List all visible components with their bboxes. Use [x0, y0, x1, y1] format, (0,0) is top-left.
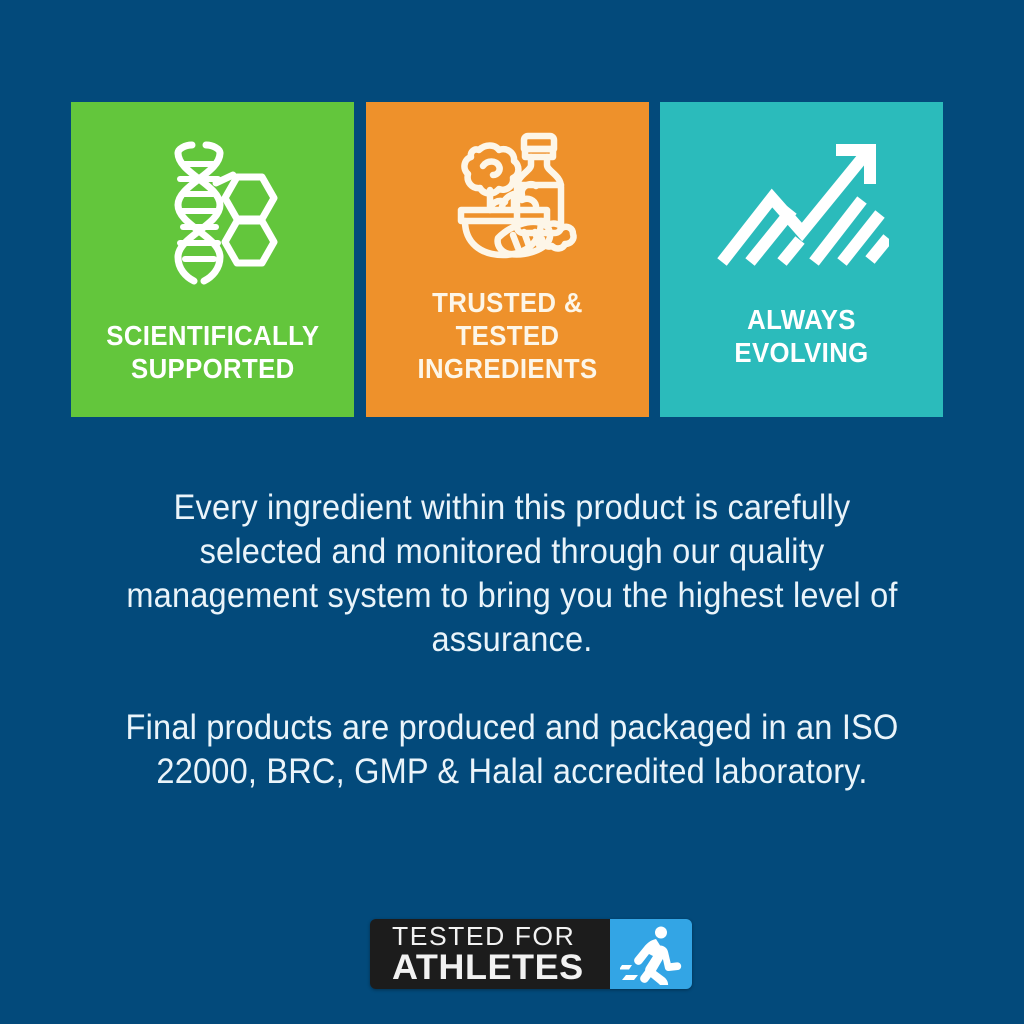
body-copy: Every ingredient within this product is … — [92, 486, 932, 794]
badge-card-always-evolving[interactable]: ALWAYS EVOLVING — [660, 102, 943, 417]
logo-line-athletes: ATHLETES — [392, 950, 617, 986]
paragraph-accreditations: Final products are produced and packaged… — [121, 706, 902, 794]
dna-hexagon-icon — [71, 108, 354, 319]
growth-arrow-chart-icon — [660, 108, 943, 303]
badge-card-scientifically-supported[interactable]: SCIENTIFICALLY SUPPORTED — [71, 102, 354, 417]
badge-label-trusted-tested-ingredients: TRUSTED & TESTED INGREDIENTS — [377, 286, 637, 385]
logo-text-block: TESTED FOR ATHLETES — [370, 919, 610, 989]
running-athlete-icon — [610, 919, 692, 989]
badge-label-scientifically-supported: SCIENTIFICALLY SUPPORTED — [100, 319, 324, 385]
badge-label-always-evolving: ALWAYS EVOLVING — [671, 303, 931, 369]
badge-card-trusted-tested-ingredients[interactable]: TRUSTED & TESTED INGREDIENTS — [366, 102, 649, 417]
badge-row: SCIENTIFICALLY SUPPORTED — [71, 102, 943, 417]
poster-root: SCIENTIFICALLY SUPPORTED — [0, 0, 1024, 1024]
logo-line-tested-for: TESTED FOR — [392, 922, 614, 950]
paragraph-quality-management: Every ingredient within this product is … — [121, 486, 902, 662]
tested-for-athletes-logo[interactable]: TESTED FOR ATHLETES — [370, 919, 692, 989]
bowl-bottle-carrot-icon — [366, 108, 649, 286]
